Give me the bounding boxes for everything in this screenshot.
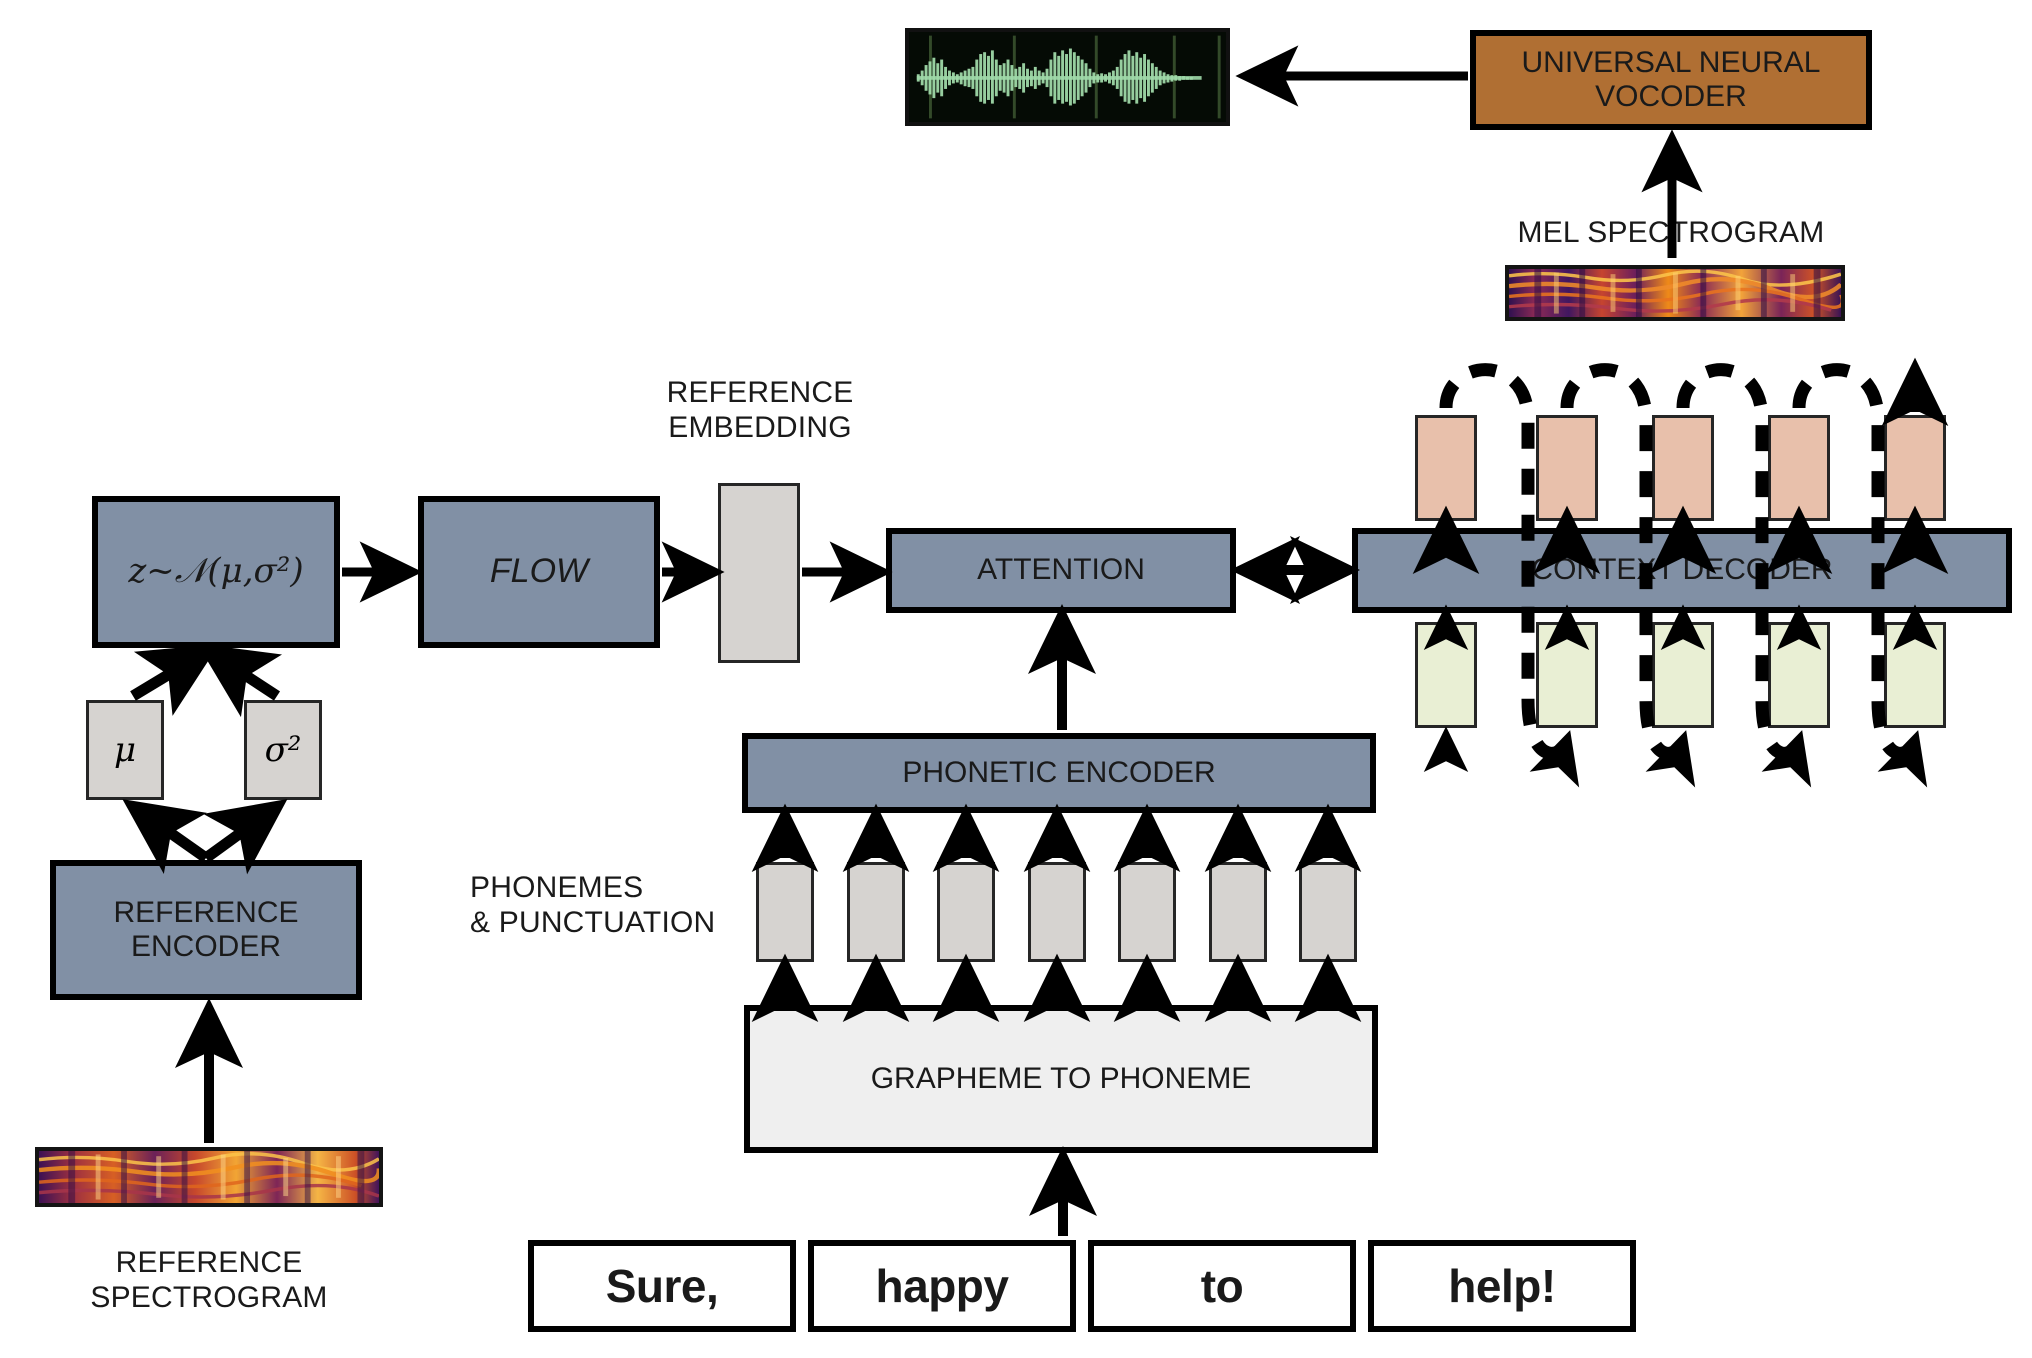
arrow-refencoder-to-sigma2 xyxy=(206,808,275,858)
context-decoder-block[interactable]: CONTEXT DECODER xyxy=(1352,528,2012,613)
reference-encoder-label-line1: REFERENCE xyxy=(113,896,298,931)
phonemes-label-line1: PHONEMES xyxy=(470,870,740,905)
decoder-input-state-4[interactable] xyxy=(1768,622,1830,728)
decoder-input-state-3[interactable] xyxy=(1652,622,1714,728)
reference-embedding-block[interactable] xyxy=(718,483,800,663)
input-word-label-4: help! xyxy=(1448,1260,1555,1313)
input-word-label-3: to xyxy=(1201,1260,1243,1313)
grapheme-to-phoneme-block[interactable]: GRAPHEME TO PHONEME xyxy=(744,1005,1378,1153)
phonetic-encoder-block[interactable]: PHONETIC ENCODER xyxy=(742,733,1376,813)
reference-spectrogram-icon xyxy=(39,1151,379,1203)
decoder-input-state-1[interactable] xyxy=(1415,622,1477,728)
universal-neural-vocoder-block[interactable]: UNIVERSAL NEURAL VOCODER xyxy=(1470,30,1872,130)
decoder-input-state-5[interactable] xyxy=(1884,622,1946,728)
flow-label: FLOW xyxy=(490,552,588,591)
latent-distribution-block[interactable]: z~𝒩(μ,σ²) xyxy=(92,496,340,648)
arrow-refencoder-to-mu xyxy=(135,808,206,858)
phonemes-label-line2: & PUNCTUATION xyxy=(470,905,740,940)
phoneme-token-6[interactable] xyxy=(1209,862,1267,962)
input-word-label-1: Sure, xyxy=(606,1260,719,1313)
grapheme-to-phoneme-label: GRAPHEME TO PHONEME xyxy=(871,1062,1252,1097)
decoder-input-state-2[interactable] xyxy=(1536,622,1598,728)
reference-spectrogram-label-line1: REFERENCE xyxy=(30,1245,388,1280)
sigma2-label: σ² xyxy=(265,730,302,770)
reference-encoder-block[interactable]: REFERENCE ENCODER xyxy=(50,860,362,1000)
arrow-mu-to-latent xyxy=(133,652,206,696)
vocoder-label-line1: UNIVERSAL NEURAL xyxy=(1522,46,1821,81)
decoder-output-state-5[interactable] xyxy=(1884,415,1946,521)
reference-spectrogram-label-line2: SPECTROGRAM xyxy=(30,1280,388,1315)
diagram-canvas: UNIVERSAL NEURAL VOCODER MEL SPECTROGRAM xyxy=(0,0,2032,1358)
decoder-output-state-4[interactable] xyxy=(1768,415,1830,521)
arrow-g2p-to-phoneme-group xyxy=(785,968,1328,1002)
audio-waveform-icon xyxy=(909,32,1226,122)
flow-block[interactable]: FLOW xyxy=(418,496,660,648)
context-decoder-label: CONTEXT DECODER xyxy=(1531,553,1832,588)
input-word-label-2: happy xyxy=(876,1260,1009,1313)
reference-embedding-label-line2: EMBEDDING xyxy=(640,410,880,445)
latent-label: z~𝒩(μ,σ²) xyxy=(128,552,303,591)
arrow-input-states-to-decoder xyxy=(1446,614,1915,622)
phoneme-token-4[interactable] xyxy=(1028,862,1086,962)
input-word-box-2[interactable]: happy xyxy=(808,1240,1076,1332)
mu-label: μ xyxy=(114,730,136,770)
phonemes-punctuation-label: PHONEMES & PUNCTUATION xyxy=(470,870,740,941)
decoder-output-state-3[interactable] xyxy=(1652,415,1714,521)
reference-encoder-label-line2: ENCODER xyxy=(131,930,281,965)
decoder-output-state-1[interactable] xyxy=(1415,415,1477,521)
mel-spectrogram-icon xyxy=(1509,269,1841,317)
reference-embedding-label: REFERENCE EMBEDDING xyxy=(640,375,880,446)
vocoder-label-line2: VOCODER xyxy=(1595,80,1747,115)
arrow-phoneme-to-encoder-group xyxy=(785,818,1328,858)
output-waveform-display xyxy=(905,28,1230,126)
input-word-box-4[interactable]: help! xyxy=(1368,1240,1636,1332)
reference-spectrogram-image xyxy=(35,1147,383,1207)
phoneme-token-5[interactable] xyxy=(1118,862,1176,962)
decoder-output-state-2[interactable] xyxy=(1536,415,1598,521)
arrow-sigma2-to-latent xyxy=(210,652,277,696)
phonetic-encoder-label: PHONETIC ENCODER xyxy=(902,756,1215,791)
phoneme-token-3[interactable] xyxy=(937,862,995,962)
reference-embedding-label-line1: REFERENCE xyxy=(640,375,880,410)
sigma-squared-block[interactable]: σ² xyxy=(244,700,322,800)
input-word-box-1[interactable]: Sure, xyxy=(528,1240,796,1332)
phoneme-token-1[interactable] xyxy=(756,862,814,962)
phoneme-token-7[interactable] xyxy=(1299,862,1357,962)
reference-spectrogram-label: REFERENCE SPECTROGRAM xyxy=(30,1245,388,1316)
mel-spectrogram-image xyxy=(1505,265,1845,321)
attention-label: ATTENTION xyxy=(977,553,1145,588)
mel-spectrogram-label: MEL SPECTROGRAM xyxy=(1468,215,1874,250)
attention-block[interactable]: ATTENTION xyxy=(886,528,1236,613)
mu-block[interactable]: μ xyxy=(86,700,164,800)
input-word-box-3[interactable]: to xyxy=(1088,1240,1356,1332)
phoneme-token-2[interactable] xyxy=(847,862,905,962)
